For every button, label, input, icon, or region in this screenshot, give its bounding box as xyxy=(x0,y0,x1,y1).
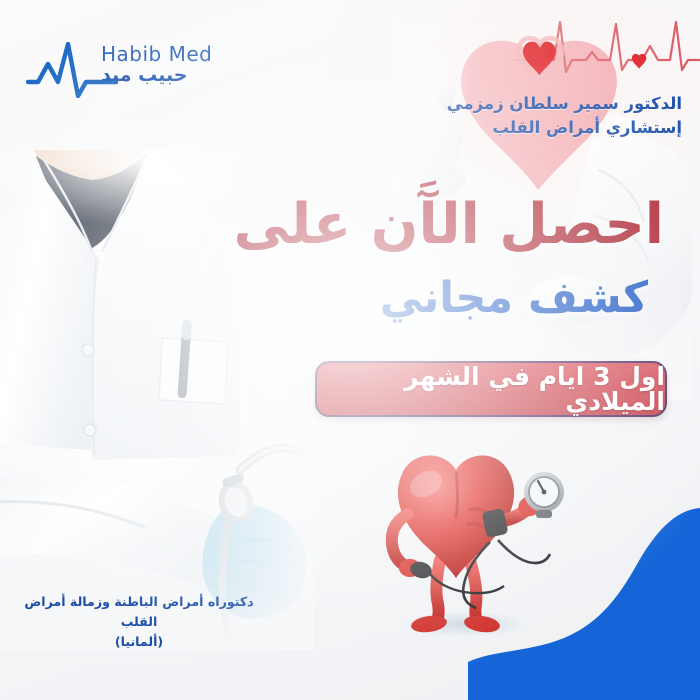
doctor-specialty: إستشاري أمراض القلب xyxy=(447,116,682,140)
ecg-heartbeat-icon xyxy=(510,16,700,82)
offer-cta-label: اول 3 ايام في الشهر الميلادي xyxy=(317,364,665,414)
doctor-name-block: الدكتور سمير سلطان زمزمي إستشاري أمراض ا… xyxy=(447,92,682,140)
offer-cta-button[interactable]: اول 3 ايام في الشهر الميلادي xyxy=(315,361,667,417)
brand-name-en: Habib Med xyxy=(101,44,212,65)
blue-wave-decoration xyxy=(468,500,700,700)
brand-name-ar: حبيب ميد xyxy=(101,66,212,86)
headline-primary: احصل الآَن على xyxy=(233,196,664,255)
doctor-credentials: دكتوراه أمراض الباطنة وزمالة أمراض القلب… xyxy=(8,592,270,652)
doctor-name: الدكتور سمير سلطان زمزمي xyxy=(447,92,682,116)
credentials-line-2: (ألمانيا) xyxy=(8,632,270,652)
advertisement-poster: Habib Med حبيب ميد الدكتور سمير سلطان زم… xyxy=(0,0,700,700)
headline-secondary: كشف مجاني xyxy=(380,276,648,321)
brand-logo[interactable]: Habib Med حبيب ميد xyxy=(26,38,226,100)
credentials-line-1: دكتوراه أمراض الباطنة وزمالة أمراض القلب xyxy=(8,592,270,632)
